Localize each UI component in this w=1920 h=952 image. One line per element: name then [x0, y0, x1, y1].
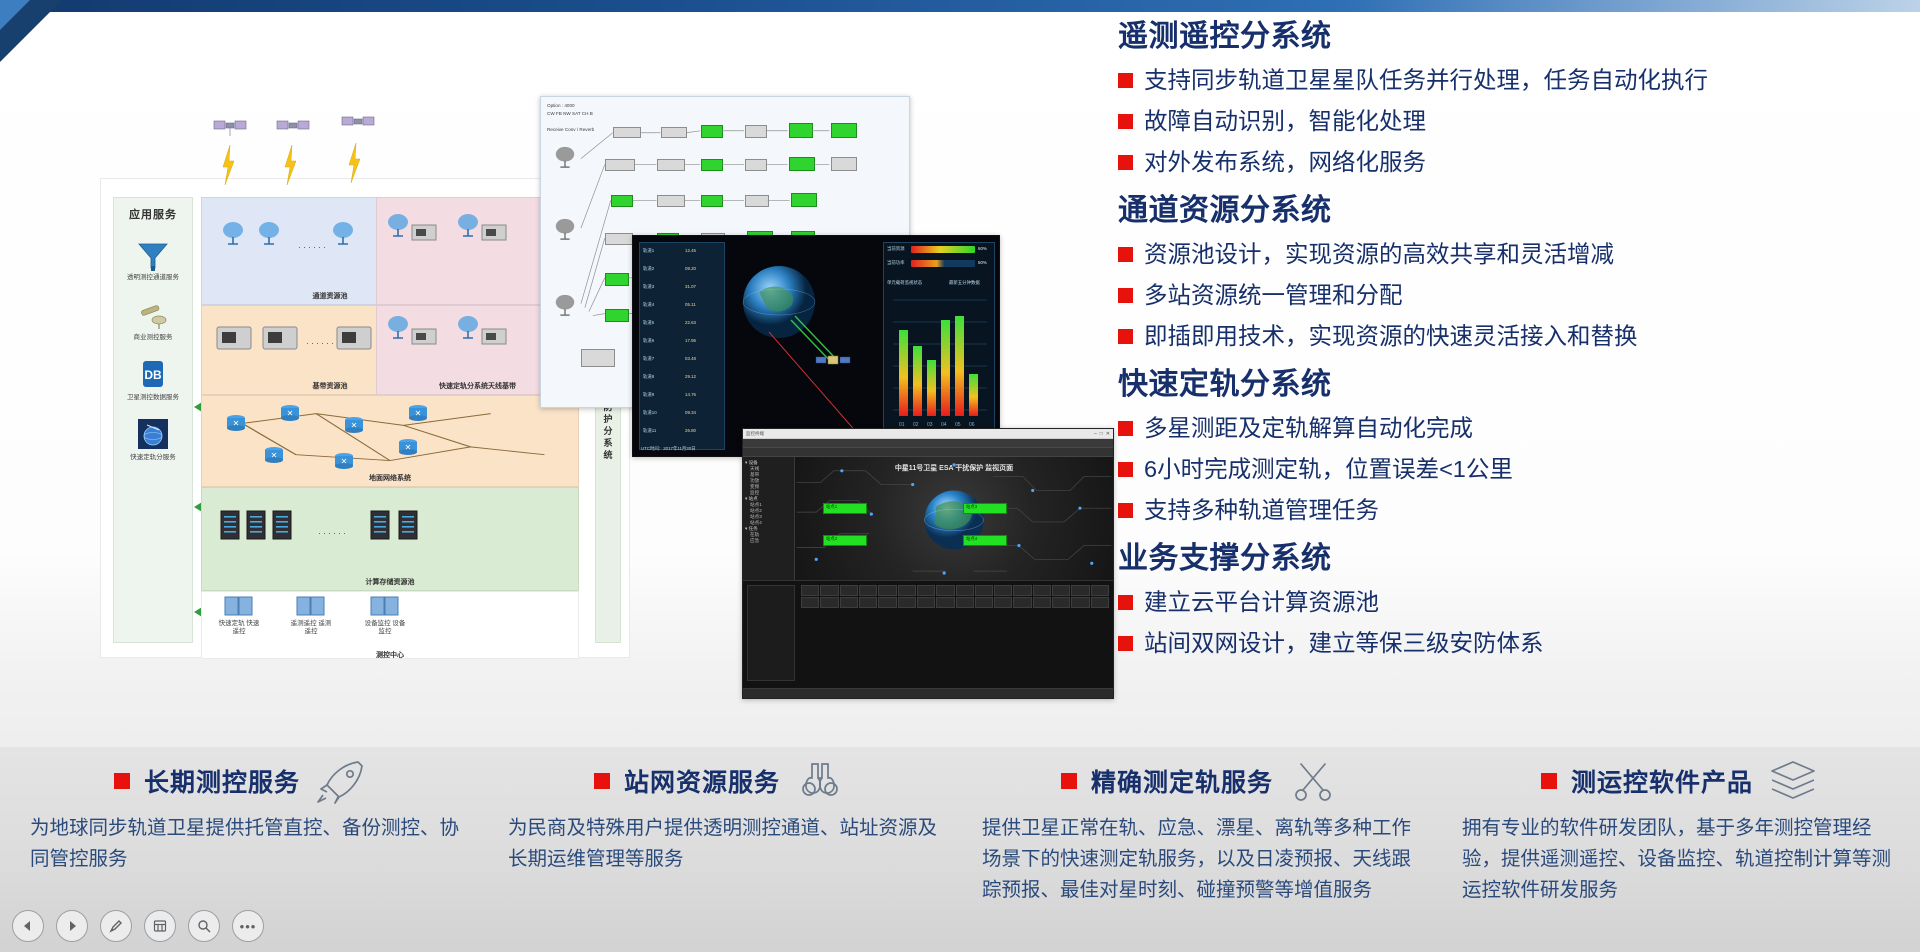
- bullet-square-icon: [1118, 462, 1133, 477]
- esa-window-title: 监控终端: [743, 431, 764, 437]
- service-label: 卫星测控数据服务: [127, 394, 179, 402]
- bullet-square-icon: [1118, 503, 1133, 518]
- maximize-icon[interactable]: □: [1100, 431, 1103, 437]
- esa-button-matrix[interactable]: [801, 585, 1109, 681]
- orbit-parameter-table: [639, 242, 725, 450]
- bullet-text: 资源池设计，实现资源的高效共享和灵活增减: [1144, 234, 1614, 275]
- service-transparent-channel: 透明测控通道服务: [127, 236, 179, 282]
- layers-icon: [1767, 758, 1819, 804]
- card-body: 提供卫星正常在轨、应急、漂星、离轨等多种工作场景下的快速测定轨服务，以及日凌预报…: [978, 809, 1422, 906]
- bullet-square-icon: [1118, 247, 1133, 262]
- bullet-item: 站间双网设计，建立等保三级安防体系: [1118, 623, 1908, 664]
- section-title: 通道资源分系统: [1118, 188, 1908, 234]
- card-body: 为地球同步轨道卫星提供托管直控、备份测控、协同管控服务: [18, 809, 462, 875]
- section-title: 遥测遥控分系统: [1118, 14, 1908, 60]
- ellipsis-icon: •••: [240, 920, 257, 933]
- esa-tree-panel[interactable]: ▾ 设备 天线 基带 功放 变频 监控 ▾ 站点 站点1 站点2 站点3 站点4…: [743, 457, 795, 580]
- svg-text:✕: ✕: [233, 419, 240, 428]
- card-title: 长期测控服务: [144, 763, 300, 799]
- previous-slide-button[interactable]: [12, 910, 44, 942]
- service-cards-row: 长期测控服务 为地球同步轨道卫星提供托管直控、备份测控、协同管控服务 站网资源服…: [0, 753, 1920, 938]
- binoculars-icon: [794, 758, 846, 804]
- esa-window-titlebar[interactable]: 监控终端 – □ ✕: [743, 429, 1113, 439]
- bullet-square-icon: [1118, 114, 1133, 129]
- application-services-title: 应用服务: [129, 206, 177, 222]
- pen-icon: [108, 918, 124, 934]
- globe-dish-icon: [135, 416, 171, 452]
- antenna-icon: [135, 296, 171, 332]
- service-commercial-tt-c: 商业测控服务: [134, 296, 173, 342]
- esa-main-scene: 中星11号卫星 ESA 干扰保护 监视页面: [795, 457, 1113, 580]
- bullet-square-icon: [1118, 155, 1133, 170]
- top-accent-bar: [0, 0, 1920, 12]
- bullet-item: 多站资源统一管理和分配: [1118, 275, 1908, 316]
- load-panel-subtitle: 最新五分钟数据: [949, 280, 980, 286]
- corner-triangle-light: [0, 0, 30, 30]
- rocket-icon: [314, 758, 366, 804]
- band-control-center: 快速定轨 快速遥控 遥测遥控 遥测遥控 设备监控 设备监控 测控中心: [201, 591, 579, 659]
- esa-node-box: 站点4: [963, 535, 1007, 546]
- load-panel-title: 单元载荷监视状态: [887, 280, 922, 286]
- bullet-item: 资源池设计，实现资源的高效共享和灵活增减: [1118, 234, 1908, 275]
- bullet-square-icon: [1118, 636, 1133, 651]
- presentation-toolbar[interactable]: •••: [12, 910, 264, 942]
- bullet-square-icon: [594, 773, 610, 789]
- screenshot-esa-monitor[interactable]: 监控终端 – □ ✕ ▾ 设备 天线 基带 功放 变频 监控 ▾ 站点 站点1 …: [742, 428, 1114, 699]
- band-label: 计算存储资源池: [202, 577, 578, 587]
- next-slide-button[interactable]: [56, 910, 88, 942]
- card-title: 测运控软件产品: [1571, 763, 1753, 799]
- card-header: 精确测定轨服务: [978, 753, 1422, 809]
- card-body: 为民商及特殊用户提供透明测控通道、站址资源及长期运维管理等服务: [498, 809, 942, 875]
- section-business-support: 业务支撑分系统 建立云平台计算资源池 站间双网设计，建立等保三级安防体系: [1118, 536, 1908, 664]
- svg-text:DB: DB: [144, 368, 162, 382]
- esa-status-bar: [743, 688, 1113, 698]
- esa-bottom-panel[interactable]: [743, 580, 1113, 688]
- service-satellite-data: DB 卫星测控数据服务: [127, 356, 179, 402]
- prev-icon: [20, 918, 36, 934]
- bullet-item: 支持多种轨道管理任务: [1118, 490, 1908, 531]
- section-channel-resource: 通道资源分系统 资源池设计，实现资源的高效共享和灵活增减 多站资源统一管理和分配…: [1118, 188, 1908, 357]
- bullet-text: 站间双网设计，建立等保三级安防体系: [1144, 623, 1544, 664]
- load-bar-chart: 0102 0304 0506: [887, 290, 991, 430]
- bullet-text: 支持多种轨道管理任务: [1144, 490, 1379, 531]
- bullet-item: 6小时完成测定轨，位置误差<1公里: [1118, 449, 1908, 490]
- application-services-panel: 应用服务 透明测控通道服务 商业测控服务 DB 卫星测控数据服务: [113, 197, 193, 643]
- node-label: 遥测遥控 遥测遥控: [288, 620, 334, 636]
- svg-text:✕: ✕: [287, 409, 294, 418]
- database-icon: DB: [135, 356, 171, 392]
- node-label: 快速定轨 快速遥控: [216, 620, 262, 636]
- service-label: 商业测控服务: [134, 334, 173, 342]
- meter-value-1: 60%: [978, 246, 987, 251]
- esa-node-box: 站点3: [963, 503, 1007, 514]
- bullet-text: 多站资源统一管理和分配: [1144, 275, 1403, 316]
- subsystem-feature-list: 遥测遥控分系统 支持同步轨道卫星星队任务并行处理，任务自动化执行 故障自动识别，…: [1118, 14, 1908, 669]
- svg-text:✕: ✕: [351, 421, 358, 430]
- section-title: 业务支撑分系统: [1118, 536, 1908, 582]
- bullet-item: 支持同步轨道卫星星队任务并行处理，任务自动化执行: [1118, 60, 1908, 101]
- bullet-text: 即插即用技术，实现资源的快速灵活接入和替换: [1144, 316, 1638, 357]
- band-label: 测控中心: [202, 650, 578, 660]
- card-header: 站网资源服务: [498, 753, 942, 809]
- bullet-square-icon: [1118, 329, 1133, 344]
- screenshot-3d-orbit-monitor[interactable]: 轨道1 轨道2 轨道3 轨道4 轨道5 轨道6 轨道7 轨道8 轨道9 轨道10…: [632, 235, 1000, 457]
- bullet-item: 故障自动识别，智能化处理: [1118, 101, 1908, 142]
- card-title: 站网资源服务: [624, 763, 780, 799]
- bullet-item: 对外发布系统，网络化服务: [1118, 142, 1908, 183]
- band-label: 地面网络系统: [202, 473, 578, 483]
- esa-node-box: 站点2: [823, 535, 867, 546]
- meter-bar-2: [911, 260, 975, 267]
- satellite-icon: [276, 117, 310, 143]
- bullet-square-icon: [1061, 773, 1077, 789]
- esa-toolbar[interactable]: [743, 448, 1113, 457]
- bullet-square-icon: [1118, 288, 1133, 303]
- pen-button[interactable]: [100, 910, 132, 942]
- card-station-network: 站网资源服务 为民商及特殊用户提供透明测控通道、站址资源及长期运维管理等服务: [480, 753, 960, 938]
- section-telemetry: 遥测遥控分系统 支持同步轨道卫星星队任务并行处理，任务自动化执行 故障自动识别，…: [1118, 14, 1908, 183]
- meter-label-1: 当前资源: [887, 246, 905, 252]
- bullet-item: 多星测距及定轨解算自动化完成: [1118, 408, 1908, 449]
- card-header: 长期测控服务: [18, 753, 462, 809]
- svg-text:✕: ✕: [271, 451, 278, 460]
- resource-bands: ······ 通道资源池 ······ 基带资源池: [201, 197, 579, 643]
- satellite-icon: [213, 117, 247, 143]
- slide-overview-button[interactable]: [144, 910, 176, 942]
- node-label: 设备监控 设备监控: [362, 620, 408, 636]
- bullet-text: 对外发布系统，网络化服务: [1144, 142, 1426, 183]
- service-fast-orbit: 快速定轨分服务: [130, 416, 176, 462]
- svg-text:✕: ✕: [415, 409, 422, 418]
- meter-bar-1: [911, 246, 975, 253]
- bullet-square-icon: [1541, 773, 1557, 789]
- band-ground-network: ✕ ✕ ✕ ✕ ✕ ✕ ✕ 地面网络系统: [201, 395, 579, 487]
- signal-bolt-icon: [347, 143, 361, 183]
- bullet-square-icon: [1118, 595, 1133, 610]
- bullet-text: 支持同步轨道卫星星队任务并行处理，任务自动化执行: [1144, 60, 1708, 101]
- dish-funnel-icon: [135, 236, 171, 272]
- svg-text:✕: ✕: [405, 443, 412, 452]
- esa-node-box: 站点1: [823, 503, 867, 514]
- card-software-products: 测运控软件产品 拥有专业的软件研发团队，基于多年测控管理经验，提供遥测遥控、设备…: [1440, 753, 1920, 938]
- grid-icon: [152, 918, 168, 934]
- bullet-square-icon: [1118, 73, 1133, 88]
- signal-bolt-icon: [283, 145, 297, 185]
- section-fast-orbit: 快速定轨分系统 多星测距及定轨解算自动化完成 6小时完成测定轨，位置误差<1公里…: [1118, 362, 1908, 531]
- card-precise-orbit: 精确测定轨服务 提供卫星正常在轨、应急、漂星、离轨等多种工作场景下的快速测定轨服…: [960, 753, 1440, 938]
- next-icon: [64, 918, 80, 934]
- bullet-square-icon: [114, 773, 130, 789]
- slide-canvas: 应用服务 透明测控通道服务 商业测控服务 DB 卫星测控数据服务: [0, 0, 1920, 952]
- svg-text:✕: ✕: [341, 457, 348, 466]
- magnifier-icon: [196, 918, 212, 934]
- esa-hex-grid: [795, 457, 1113, 580]
- service-label: 快速定轨分服务: [130, 454, 176, 462]
- signal-bolt-icon: [221, 145, 235, 185]
- esa-menu-bar[interactable]: [743, 439, 1113, 448]
- card-title: 精确测定轨服务: [1091, 763, 1273, 799]
- bullet-text: 6小时完成测定轨，位置误差<1公里: [1144, 449, 1513, 490]
- scissors-icon: [1287, 758, 1339, 804]
- card-body: 拥有专业的软件研发团队，基于多年测控管理经验，提供遥测遥控、设备监控、轨道控制计…: [1458, 809, 1902, 906]
- close-icon[interactable]: ✕: [1106, 431, 1110, 437]
- bullet-text: 多星测距及定轨解算自动化完成: [1144, 408, 1473, 449]
- zoom-button[interactable]: [188, 910, 220, 942]
- esa-bottom-list[interactable]: [747, 585, 795, 681]
- status-bar-3d: UTC时间：2017年11月30日: [641, 446, 696, 452]
- meter-label-2: 当前功率: [887, 260, 905, 266]
- card-header: 测运控软件产品: [1458, 753, 1902, 809]
- more-options-button[interactable]: •••: [232, 910, 264, 942]
- service-label: 透明测控通道服务: [127, 274, 179, 282]
- band-compute-storage-pool: ······ 计算存储资源池: [201, 487, 579, 591]
- bullet-item: 即插即用技术，实现资源的快速灵活接入和替换: [1118, 316, 1908, 357]
- bullet-item: 建立云平台计算资源池: [1118, 582, 1908, 623]
- satellite-icon: [341, 113, 375, 139]
- meter-value-2: 50%: [978, 260, 987, 265]
- bullet-text: 建立云平台计算资源池: [1144, 582, 1379, 623]
- earth-3d-scene: [729, 246, 877, 446]
- minimize-icon[interactable]: –: [1094, 431, 1097, 437]
- section-title: 快速定轨分系统: [1118, 362, 1908, 408]
- bullet-text: 故障自动识别，智能化处理: [1144, 101, 1426, 142]
- bullet-square-icon: [1118, 421, 1133, 436]
